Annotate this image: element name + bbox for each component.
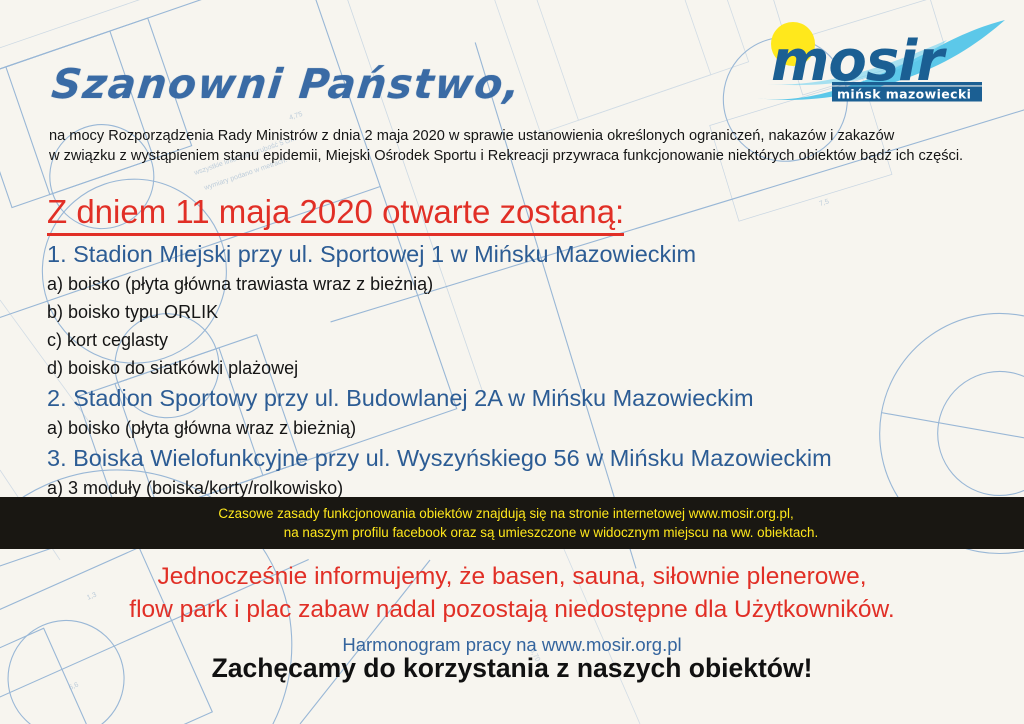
closed-notice-line-2: flow park i plac zabaw nadal pozostają n…: [0, 593, 1024, 626]
banner-line-1: Czasowe zasady funkcjonowania obiektów z…: [0, 504, 1024, 523]
svg-text:7,5: 7,5: [819, 198, 830, 208]
object-item: d) boisko do siatkówki plażowej: [47, 354, 987, 382]
info-banner: Czasowe zasady funkcjonowania obiektów z…: [0, 497, 1024, 549]
logo-subtitle: mińsk mazowiecki: [837, 87, 971, 102]
closed-facilities-notice: Jednocześnie informujemy, że basen, saun…: [0, 560, 1024, 626]
object-item: a) boisko (płyta główna trawiasta wraz z…: [47, 270, 987, 298]
objects-list: 1. Stadion Miejski przy ul. Sportowej 1 …: [47, 238, 987, 502]
closed-notice-line-1: Jednocześnie informujemy, że basen, saun…: [0, 560, 1024, 593]
page-title: Szanowni Państwo,: [49, 60, 523, 108]
intro-line-1: na mocy Rozporządzenia Rady Ministrów z …: [49, 126, 999, 146]
closing-message: Zachęcamy do korzystania z naszych obiek…: [0, 653, 1024, 684]
intro-line-2: w związku z wystąpieniem stanu epidemii,…: [49, 146, 999, 166]
object-title: 1. Stadion Miejski przy ul. Sportowej 1 …: [47, 238, 987, 270]
object-item: b) boisko typu ORLIK: [47, 298, 987, 326]
object-title: 2. Stadion Sportowy przy ul. Budowlanej …: [47, 382, 987, 414]
banner-line-2: na naszym profilu facebook oraz są umies…: [78, 523, 1024, 542]
object-item: c) kort ceglasty: [47, 326, 987, 354]
red-heading: Z dniem 11 maja 2020 otwarte zostaną:: [47, 193, 624, 236]
mosir-logo: mosir mińsk mazowiecki: [757, 18, 1007, 108]
object-title: 3. Boiska Wielofunkcyjne przy ul. Wyszyń…: [47, 442, 987, 474]
poster-root: wszystkie linie mają grubość 5 cm. wymia…: [0, 0, 1024, 724]
intro-paragraph: na mocy Rozporządzenia Rady Ministrów z …: [49, 126, 999, 166]
svg-text:4,75: 4,75: [288, 111, 303, 122]
object-item: a) boisko (płyta główna wraz z bieżnią): [47, 414, 987, 442]
